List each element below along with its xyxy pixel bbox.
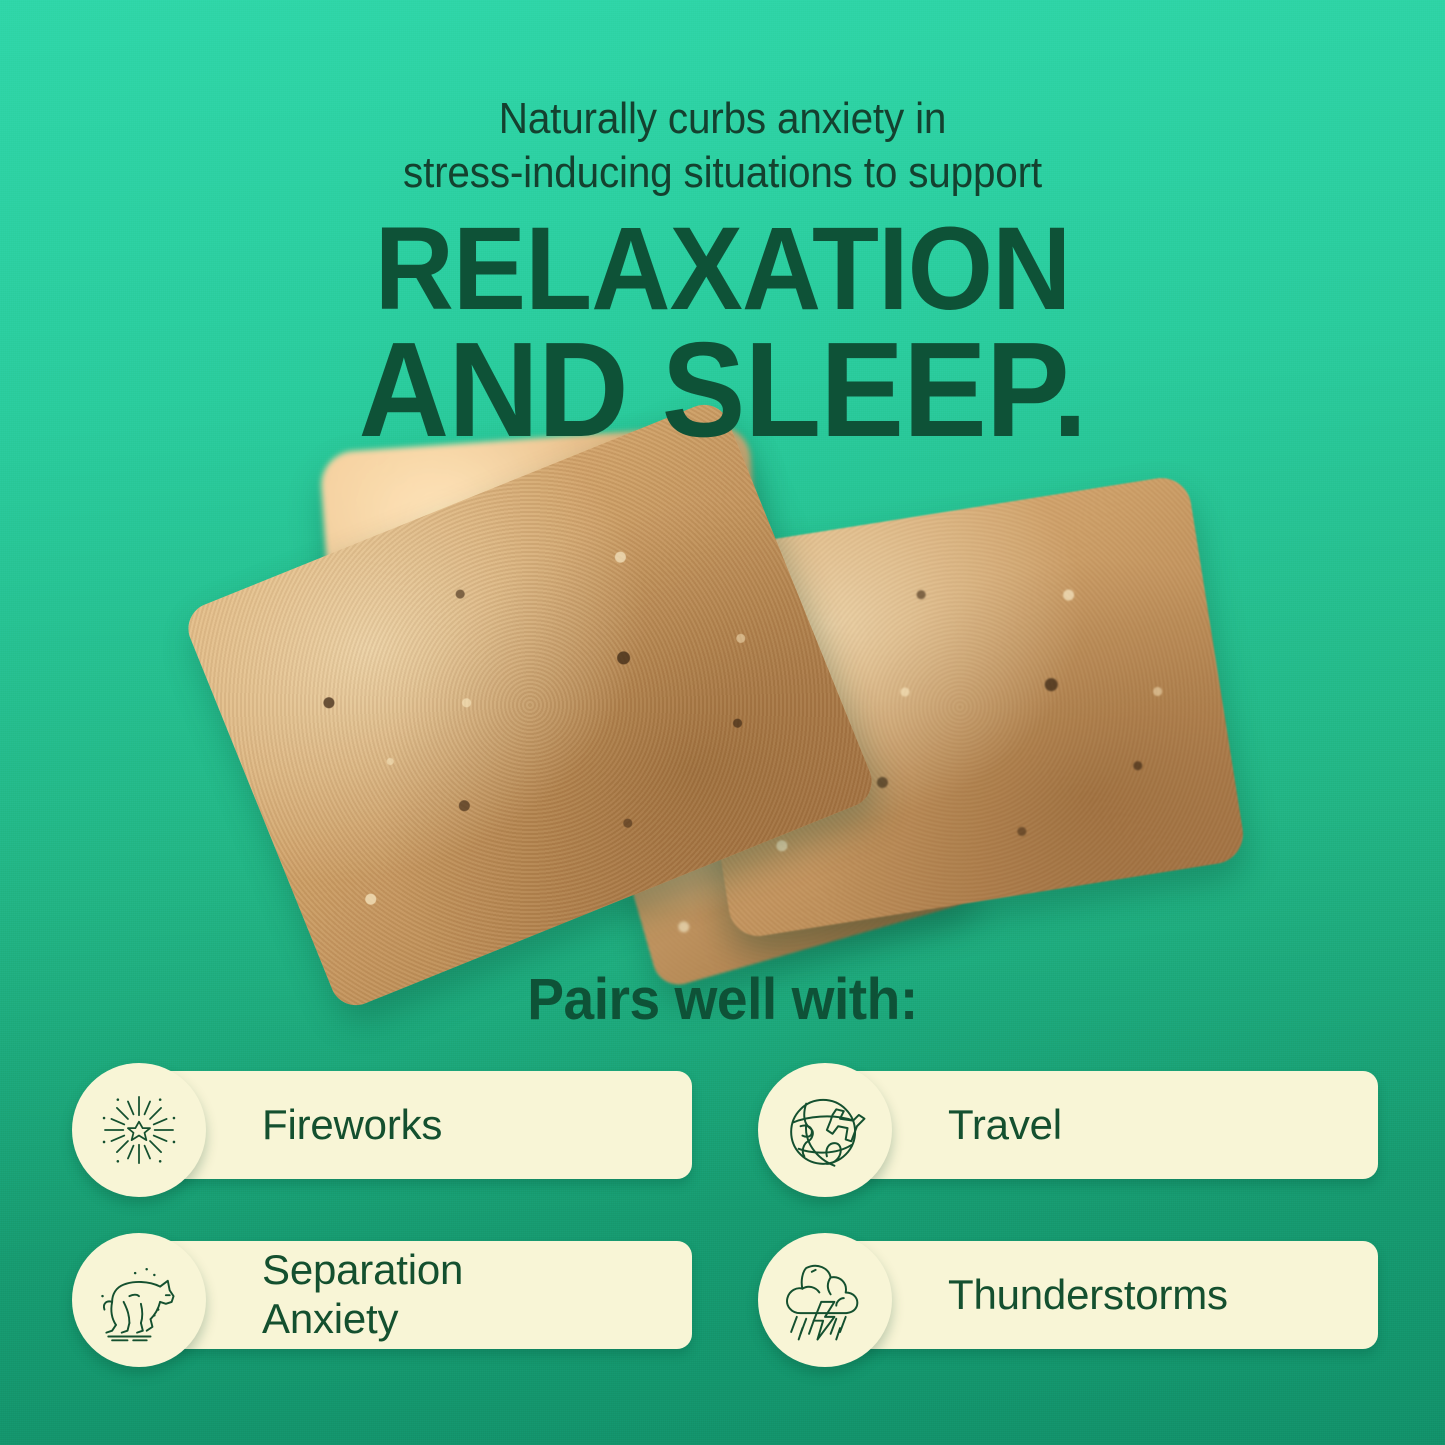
product-photo bbox=[0, 400, 1445, 1020]
feature-label: Thunderstorms bbox=[948, 1233, 1228, 1357]
feature-travel[interactable]: Travel bbox=[758, 1063, 1378, 1187]
feature-fireworks[interactable]: Fireworks bbox=[72, 1063, 692, 1187]
feature-thunderstorms[interactable]: Thunderstorms bbox=[758, 1233, 1378, 1357]
product-infographic-poster: Naturally curbs anxiety in stress-induci… bbox=[0, 0, 1445, 1445]
feature-label: Fireworks bbox=[262, 1063, 442, 1187]
feature-label: Travel bbox=[948, 1063, 1062, 1187]
feature-bar bbox=[834, 1071, 1378, 1179]
headline-line-2: AND SLEEP. bbox=[51, 328, 1395, 452]
feature-separation-anxiety[interactable]: Separation Anxiety bbox=[72, 1233, 692, 1357]
storm-cloud-lightning-rain-icon bbox=[758, 1233, 892, 1367]
fireworks-burst-icon bbox=[72, 1063, 206, 1197]
feature-label: Separation Anxiety bbox=[262, 1233, 463, 1357]
subhead-line-1: Naturally curbs anxiety in bbox=[58, 92, 1387, 146]
pairs-feature-grid: Fireworks Travel bbox=[72, 1063, 1377, 1357]
cowering-dog-icon bbox=[72, 1233, 206, 1367]
pairs-well-with-title: Pairs well with: bbox=[36, 966, 1409, 1033]
headline-line-1: RELAXATION bbox=[51, 215, 1395, 324]
headline-block: Naturally curbs anxiety in stress-induci… bbox=[0, 92, 1445, 452]
subhead-line-2: stress-inducing situations to support bbox=[58, 146, 1387, 200]
globe-airplane-icon bbox=[758, 1063, 892, 1197]
